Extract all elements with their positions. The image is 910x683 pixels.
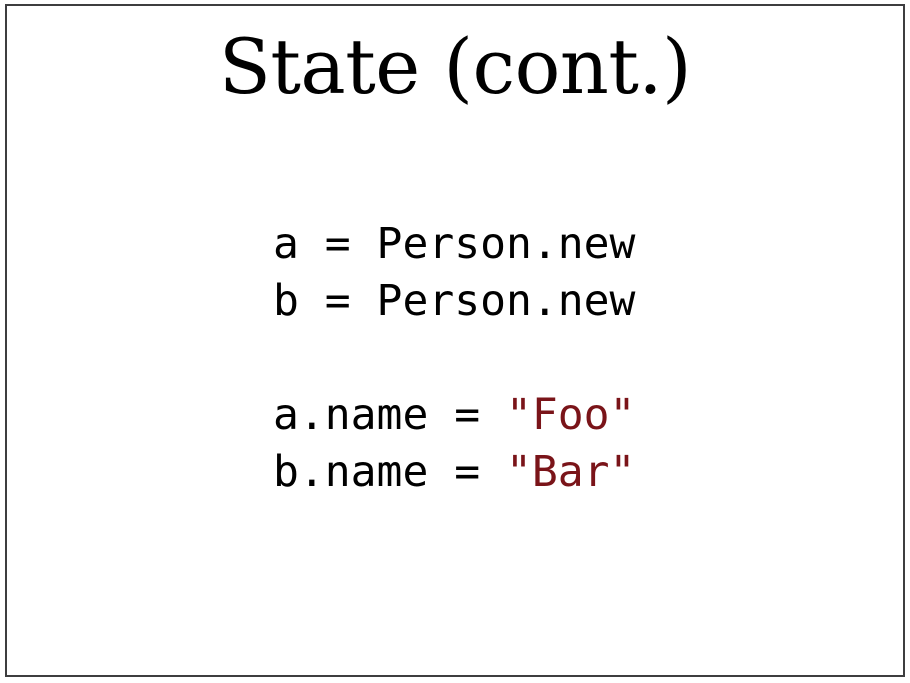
code-line: a.name = "Foo" — [273, 387, 635, 444]
code-string-literal: "Foo" — [506, 390, 635, 440]
code-text: b = Person.new — [273, 276, 635, 326]
code-text: a.name = — [273, 390, 506, 440]
page-title: State (cont.) — [0, 26, 910, 108]
code-text: a = Person.new — [273, 219, 635, 269]
code-line: b = Person.new — [273, 273, 635, 330]
code-line-blank — [273, 330, 635, 387]
code-line: a = Person.new — [273, 216, 635, 273]
code-string-literal: "Bar" — [506, 447, 635, 497]
code-text: b.name = — [273, 447, 506, 497]
presentation-slide: State (cont.) a = Person.newb = Person.n… — [0, 0, 910, 683]
code-block: a = Person.newb = Person.new a.name = "F… — [273, 216, 635, 501]
code-line: b.name = "Bar" — [273, 444, 635, 501]
